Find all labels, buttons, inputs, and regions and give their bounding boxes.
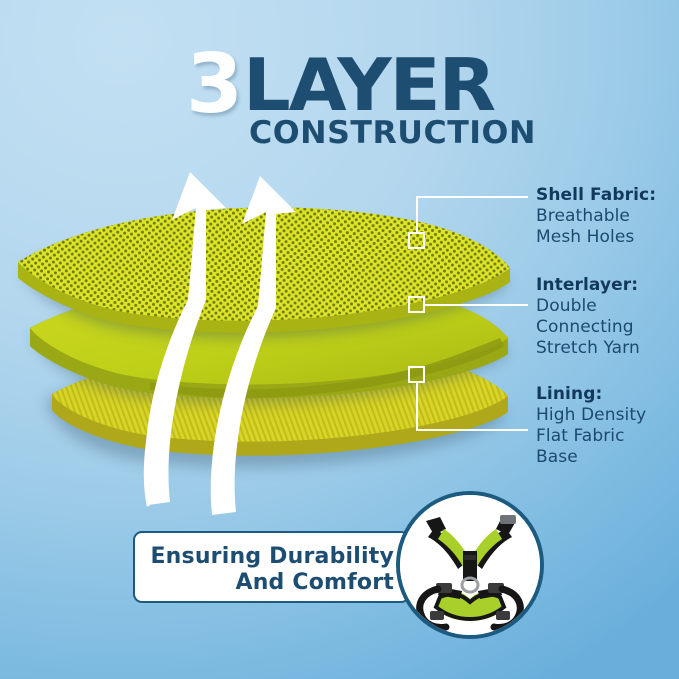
title-layer-word: LAYER [243, 54, 494, 116]
infographic-canvas: 3 LAYER CONSTRUCTION [0, 0, 679, 679]
leader-shell-vertical [416, 196, 418, 234]
leader-lining-horizontal [416, 429, 528, 431]
product-badge [396, 491, 544, 639]
callout-lining: Lining: High Density Flat Fabric Base [536, 384, 646, 468]
tagline-line-1: Ensuring Durability [150, 544, 394, 570]
title-subtitle: CONSTRUCTION [249, 118, 536, 149]
callout-lining-heading: Lining: [536, 384, 646, 405]
tagline-line-2: And Comfort [235, 570, 394, 596]
marker-lining[interactable] [408, 366, 425, 383]
leader-shell-horizontal [416, 196, 528, 198]
callout-interlayer-line-1: Double [536, 296, 640, 317]
callout-interlayer: Interlayer: Double Connecting Stretch Ya… [536, 275, 640, 359]
callout-interlayer-line-3: Stretch Yarn [536, 338, 640, 359]
leader-lining-vertical [416, 383, 418, 431]
callout-shell-fabric-line-1: Breathable [536, 206, 656, 227]
callout-lining-line-2: Flat Fabric [536, 426, 646, 447]
callout-shell-fabric-heading: Shell Fabric: [536, 185, 656, 206]
title-number: 3 [186, 54, 241, 116]
title-group: 3 LAYER CONSTRUCTION [0, 28, 679, 138]
leader-interlayer-horizontal [425, 304, 528, 306]
callout-interlayer-line-2: Connecting [536, 317, 640, 338]
callout-lining-line-1: High Density [536, 405, 646, 426]
callout-interlayer-heading: Interlayer: [536, 275, 640, 296]
callout-shell-fabric-line-2: Mesh Holes [536, 227, 656, 248]
tagline-banner: Ensuring Durability And Comfort [133, 531, 410, 603]
layer-stack-illustration [0, 150, 530, 520]
dog-harness-image [400, 495, 540, 635]
callout-shell-fabric: Shell Fabric: Breathable Mesh Holes [536, 185, 656, 248]
title-main-row: 3 LAYER [186, 54, 485, 116]
callout-lining-line-3: Base [536, 447, 646, 468]
marker-shell-fabric[interactable] [408, 232, 425, 249]
marker-interlayer[interactable] [408, 296, 425, 313]
